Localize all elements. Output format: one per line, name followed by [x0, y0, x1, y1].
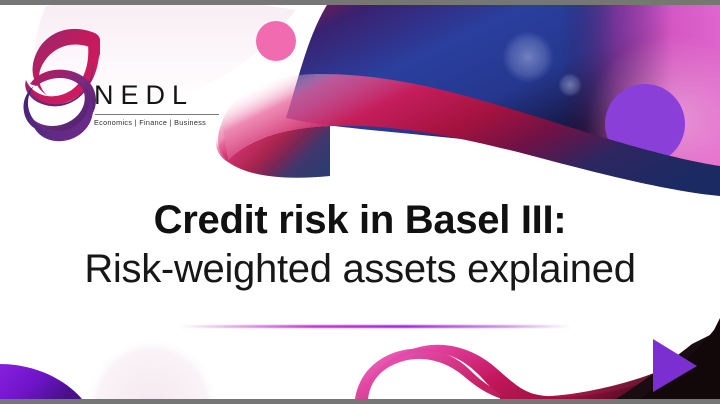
logo-divider-rule — [95, 114, 219, 115]
play-triangle-icon — [653, 339, 697, 392]
logo-wordmark: NEDL — [94, 82, 226, 109]
bokeh-circle-small — [558, 73, 582, 97]
title-line-primary: Credit risk in Basel III: — [0, 196, 720, 244]
dark-corner-shape — [616, 318, 720, 399]
pink-circle-decoration — [256, 21, 296, 61]
nedl-logo: NEDL Economics | Finance | Business — [18, 26, 228, 146]
bottom-border-bar — [0, 399, 720, 404]
top-border-bar — [0, 0, 720, 5]
crimson-wave-shape — [216, 74, 720, 196]
faint-pink-circle-bottom — [86, 338, 218, 404]
pink-wave-secondary — [355, 340, 720, 404]
accent-divider-line — [180, 325, 570, 328]
pink-wave-bottom-right — [300, 345, 720, 399]
title-line-secondary: Risk-weighted assets explained — [0, 244, 720, 294]
navy-gradient-shape — [286, 0, 720, 188]
bokeh-circle-large — [502, 31, 554, 83]
purple-wedge-bottom-left — [0, 364, 82, 399]
purple-circle-decoration — [605, 84, 685, 164]
title-block: Credit risk in Basel III: Risk-weighted … — [0, 196, 720, 294]
logo-text-group: NEDL Economics | Finance | Business — [94, 82, 226, 127]
title-slide: NEDL Economics | Finance | Business Cred… — [0, 0, 720, 404]
magenta-edge-glow — [560, 0, 720, 196]
logo-tagline: Economics | Finance | Business — [94, 118, 226, 127]
